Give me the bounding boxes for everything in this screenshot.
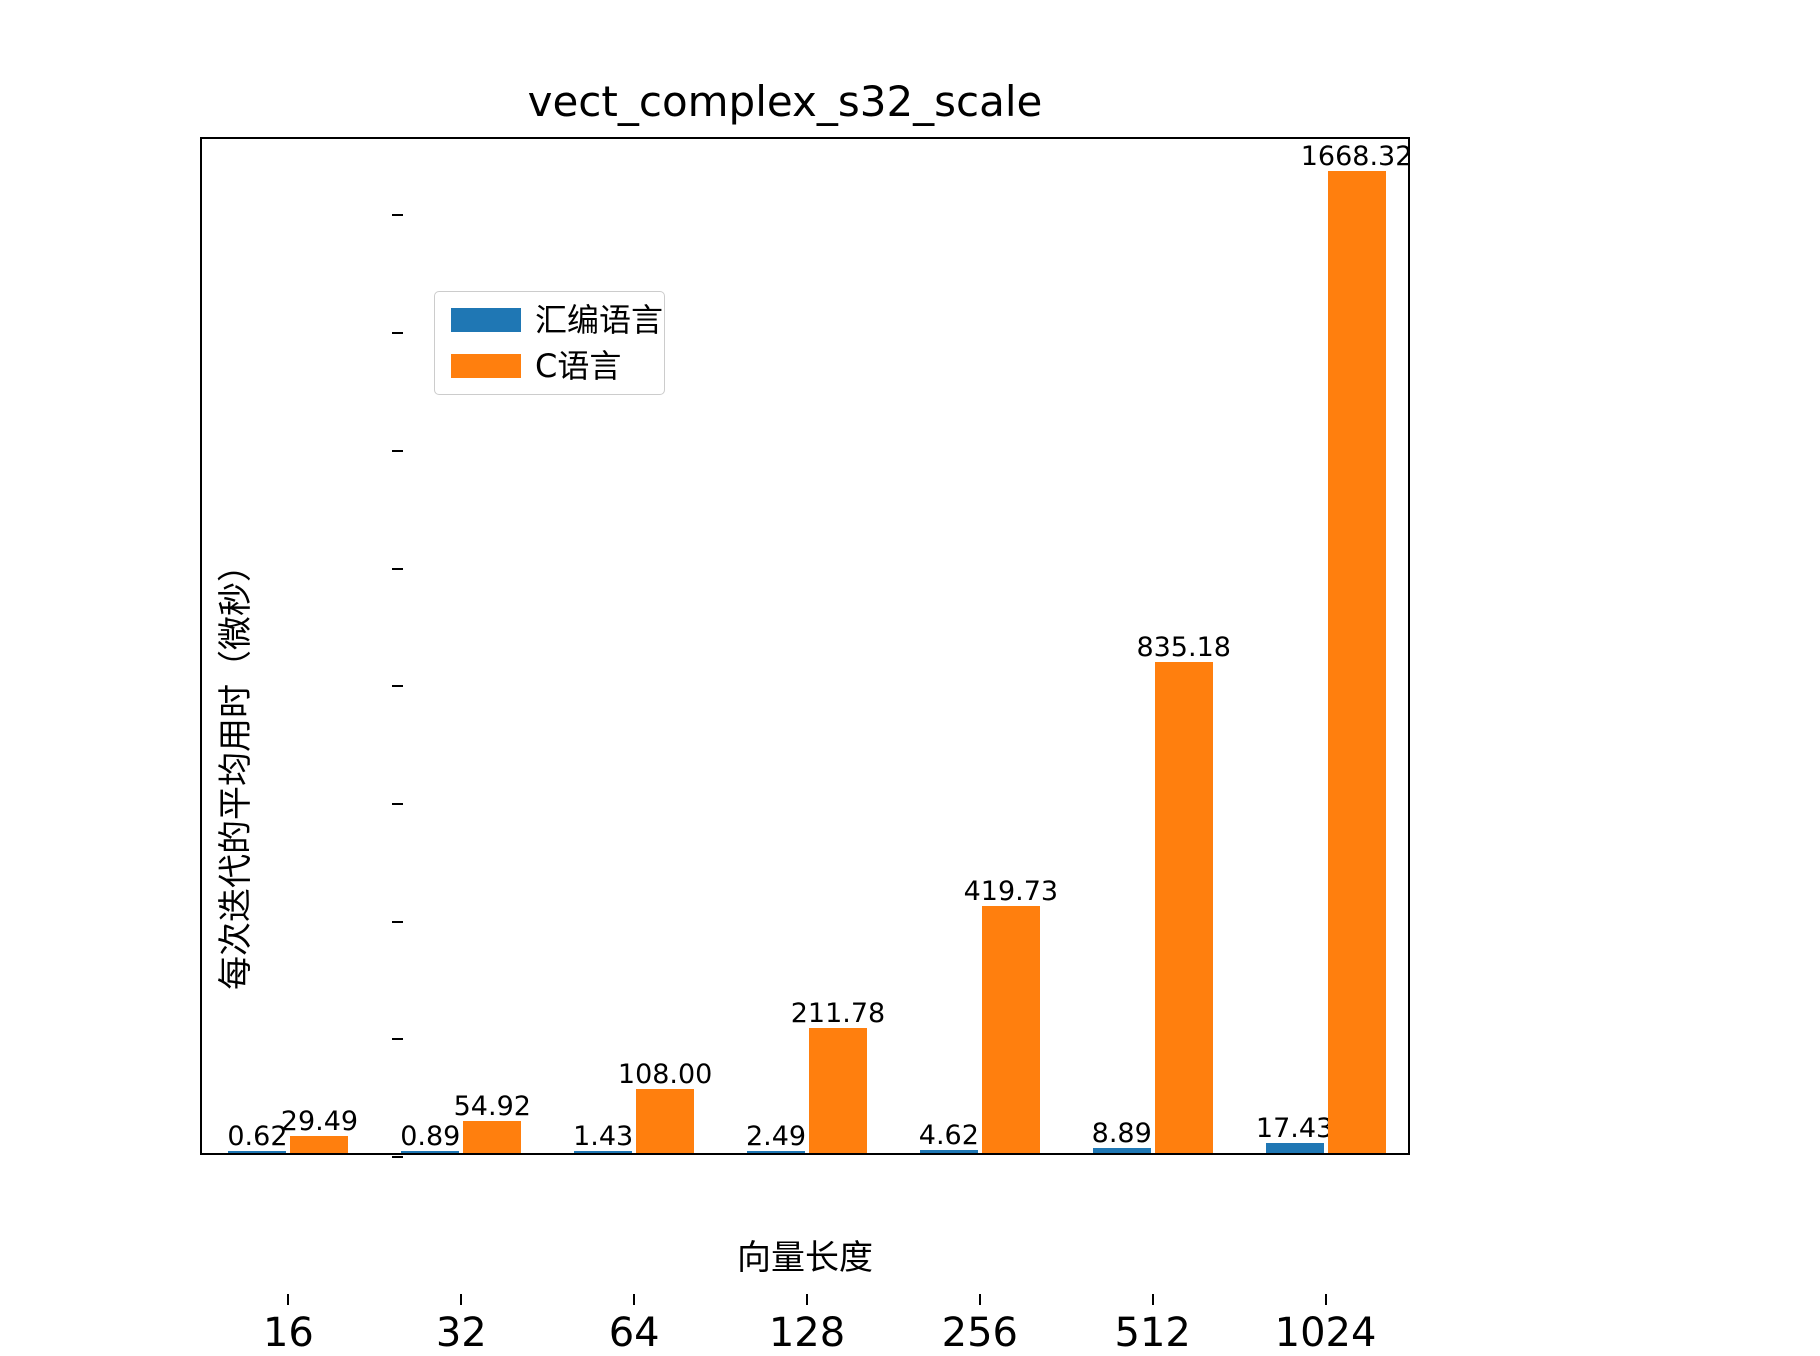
y-tick-mark <box>392 568 403 570</box>
bar-value-label: 108.00 <box>565 1059 765 1090</box>
legend-item[interactable]: 汇编语言 <box>435 298 664 342</box>
bar[interactable] <box>1266 1143 1324 1153</box>
bar-value-label: 54.92 <box>392 1091 592 1122</box>
x-axis-label: 向量长度 <box>0 1238 1610 1278</box>
y-tick-mark <box>392 685 403 687</box>
y-tick-mark <box>392 1038 403 1040</box>
bar[interactable] <box>1155 662 1213 1153</box>
legend-item[interactable]: C语言 <box>435 344 664 388</box>
y-tick-mark <box>392 450 403 452</box>
chart-legend[interactable]: 汇编语言C语言 <box>434 291 665 395</box>
x-tick-label: 1024 <box>1176 1310 1476 1356</box>
bar-value-label: 419.73 <box>911 876 1111 907</box>
y-tick-mark <box>392 1156 403 1158</box>
bar-value-label: 1668.32 <box>1257 141 1457 172</box>
y-axis-label: 每次迭代的平均用时（微秒） <box>216 419 256 1119</box>
legend-color-swatch <box>451 354 521 378</box>
y-tick-mark <box>392 921 403 923</box>
bar[interactable] <box>1328 171 1386 1153</box>
legend-color-swatch <box>451 308 521 332</box>
bar[interactable] <box>982 906 1040 1153</box>
y-tick-mark <box>392 803 403 805</box>
legend-item-label: C语言 <box>535 343 621 389</box>
plot-area: 每次迭代的平均用时（微秒） 02004006008001000120014001… <box>200 137 1410 1155</box>
page-title: vect_complex_s32_scale <box>0 78 1570 126</box>
chart-figure: vect_complex_s32_scale 每次迭代的平均用时（微秒） 020… <box>0 0 1820 1300</box>
bar-value-label: 835.18 <box>1084 632 1284 663</box>
y-tick-mark <box>392 332 403 334</box>
legend-item-label: 汇编语言 <box>535 297 663 343</box>
bar-value-label: 211.78 <box>738 998 938 1029</box>
y-tick-mark <box>392 214 403 216</box>
